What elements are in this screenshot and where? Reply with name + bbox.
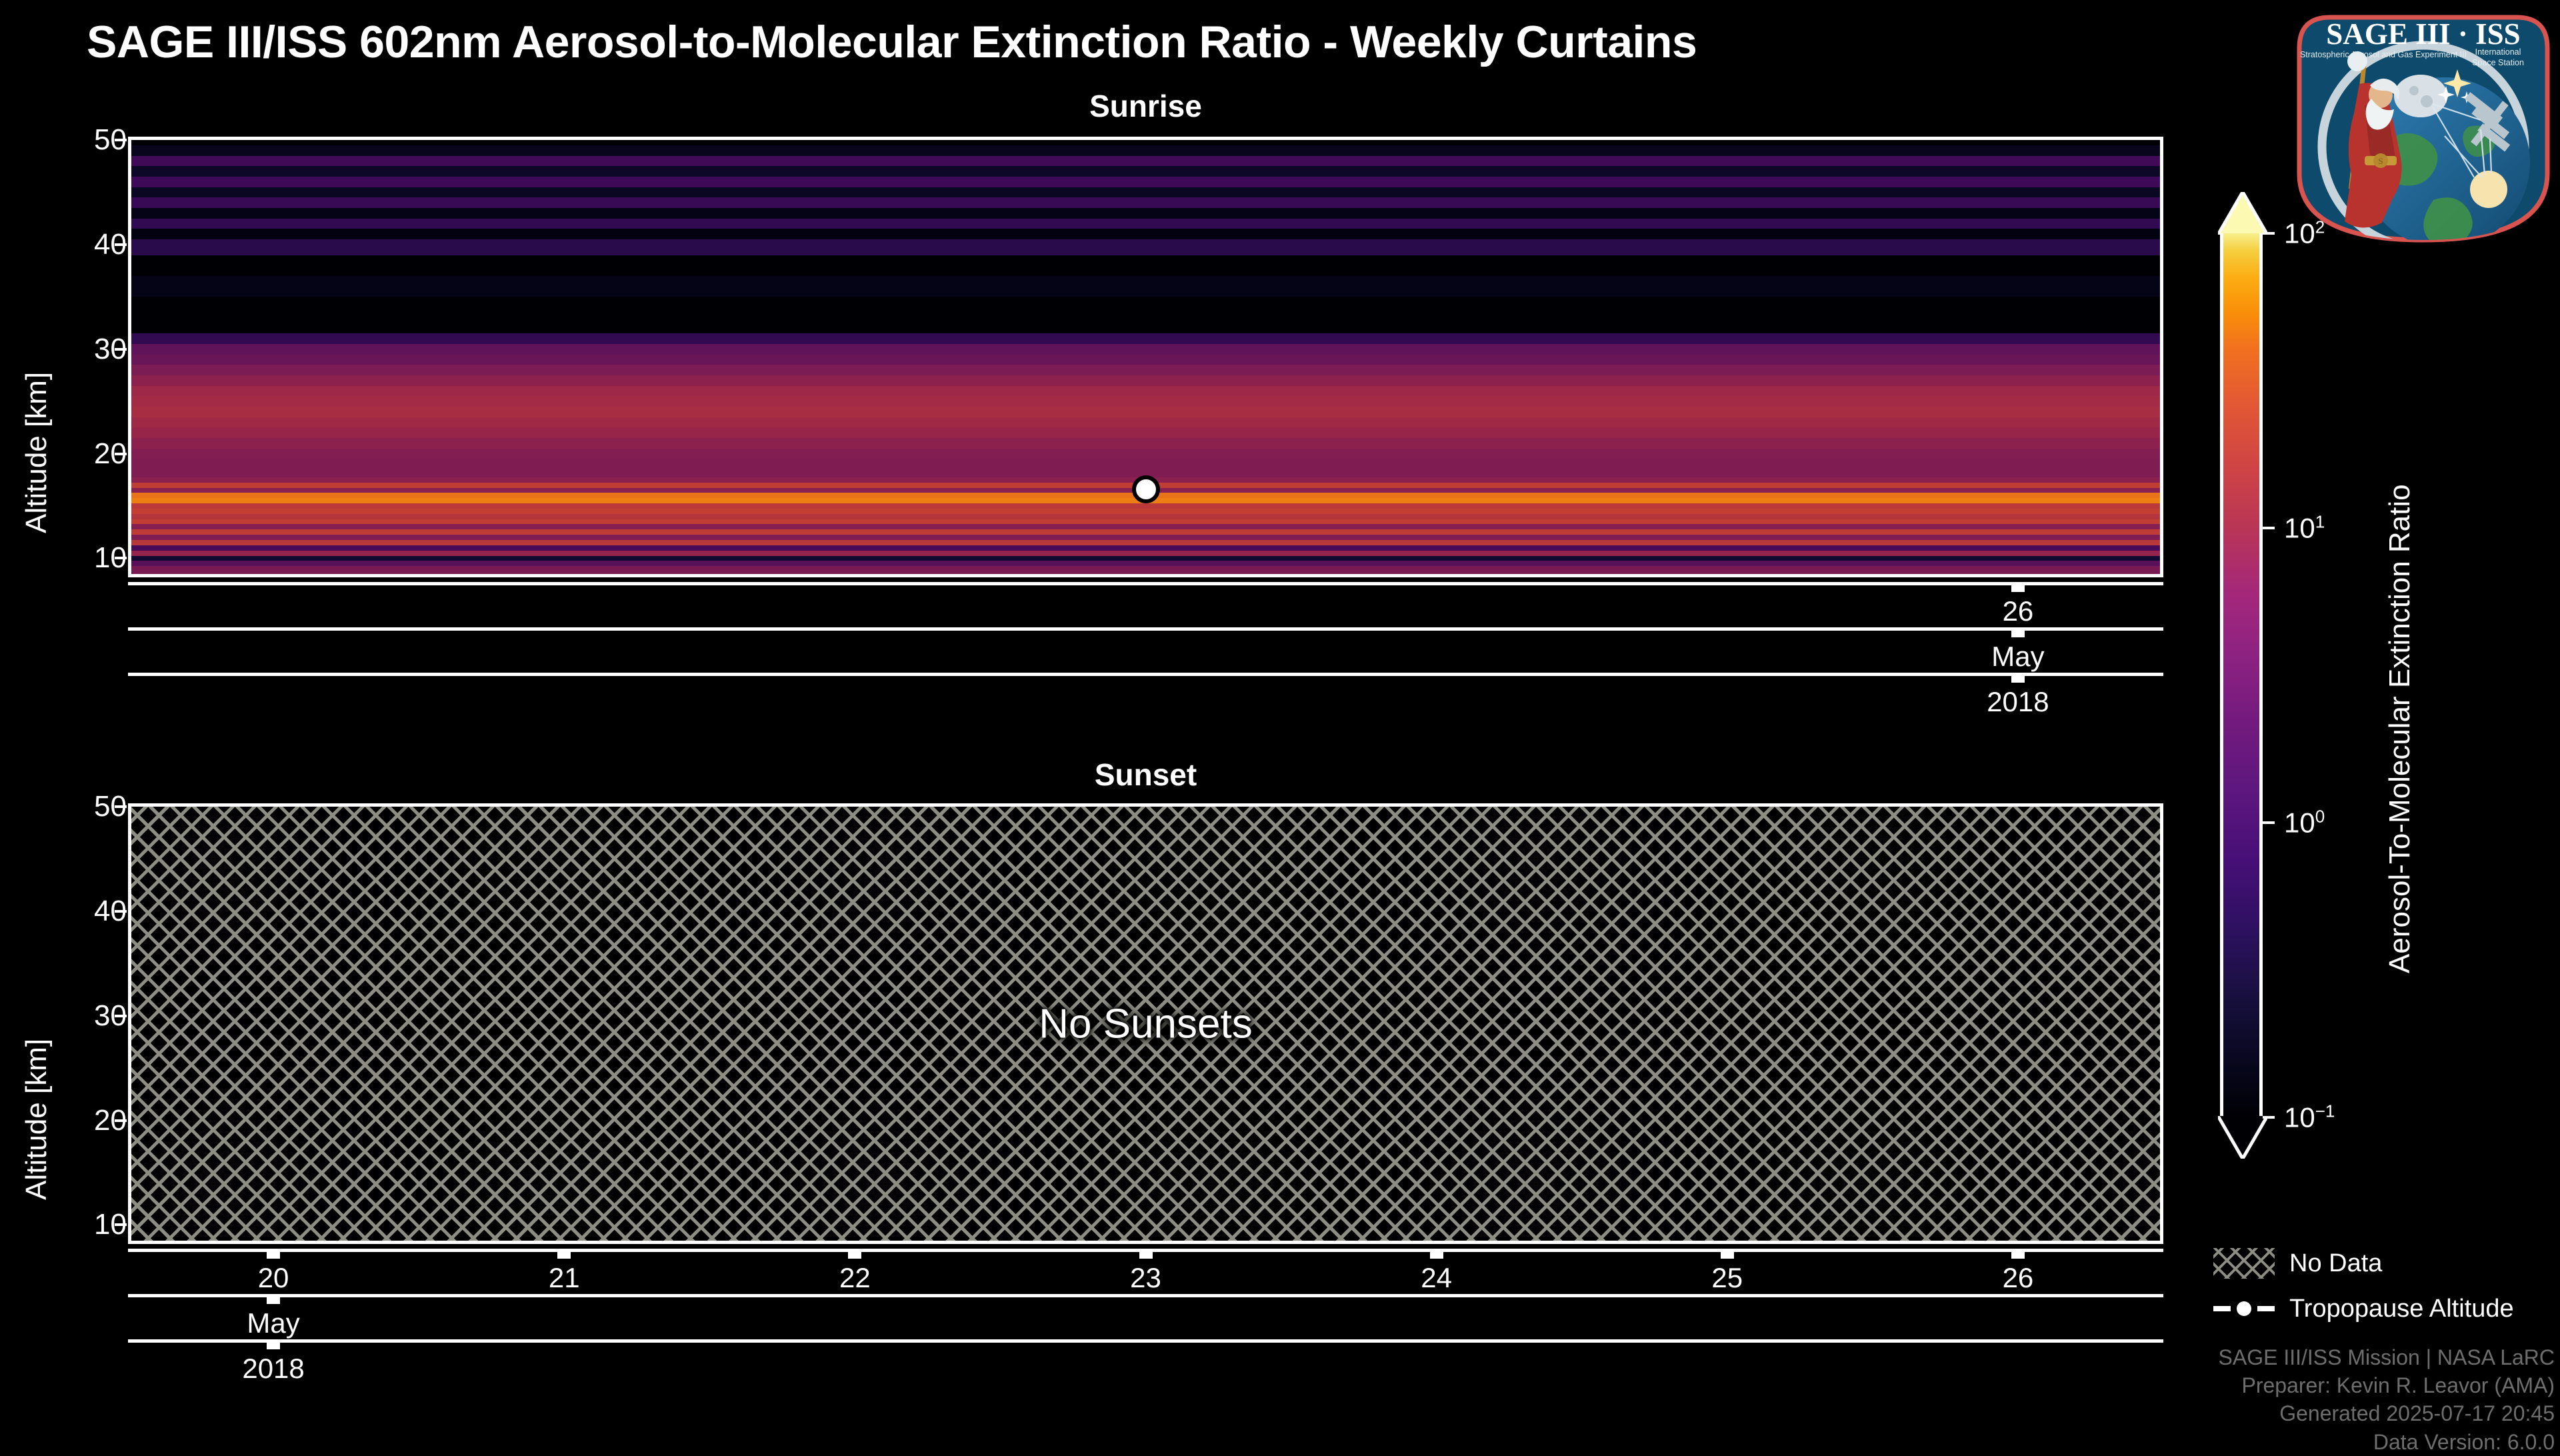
sage-iii-iss-logo: S BALL · NASA LANGLEY RESEARCH CENTER · … bbox=[2290, 5, 2557, 245]
sunrise-y-ticks: 5040302010 bbox=[0, 137, 127, 577]
heatmap-band bbox=[131, 551, 2160, 556]
tropopause-altitude-marker[interactable] bbox=[1132, 475, 1160, 503]
heatmap-band bbox=[131, 255, 2160, 276]
x-tick-mark bbox=[2011, 582, 2025, 592]
heatmap-band bbox=[131, 297, 2160, 317]
svg-text:S: S bbox=[2378, 156, 2383, 166]
sunrise-heatmap-plot[interactable] bbox=[128, 137, 2163, 577]
colorbar-tick-label: 102 bbox=[2284, 217, 2325, 250]
svg-text:Space Station: Space Station bbox=[2472, 58, 2524, 67]
heatmap-band bbox=[131, 407, 2160, 417]
heatmap-band bbox=[131, 239, 2160, 255]
footer-line-mission: SAGE III/ISS Mission | NASA LaRC bbox=[2219, 1343, 2555, 1371]
heatmap-band bbox=[131, 509, 2160, 514]
heatmap-band bbox=[131, 344, 2160, 355]
y-tick-mark bbox=[115, 348, 127, 351]
no-data-hatch-icon bbox=[2213, 1248, 2275, 1279]
x-tick-mark bbox=[1721, 1249, 1734, 1259]
heatmap-band bbox=[131, 140, 2160, 145]
heatmap-band bbox=[131, 208, 2160, 219]
y-tick-mark bbox=[115, 557, 127, 559]
heatmap-band bbox=[131, 545, 2160, 551]
x-tick-label-year: 2018 bbox=[242, 1353, 304, 1385]
sunrise-heatmap-layer bbox=[131, 140, 2160, 574]
heatmap-band bbox=[131, 156, 2160, 167]
x-tick-mark bbox=[1139, 1249, 1153, 1259]
x-tick-mark bbox=[267, 1249, 280, 1259]
svg-text:SAGE III · ISS: SAGE III · ISS bbox=[2326, 17, 2520, 51]
legend-item-tropopause: Tropopause Altitude bbox=[2213, 1289, 2560, 1329]
colorbar-tick-label: 10−1 bbox=[2284, 1101, 2335, 1134]
footer-line-preparer: Preparer: Kevin R. Leavor (AMA) bbox=[2219, 1371, 2555, 1399]
heatmap-band bbox=[131, 561, 2160, 566]
heatmap-band bbox=[131, 318, 2160, 334]
svg-text:International: International bbox=[2475, 47, 2521, 57]
heatmap-band bbox=[131, 229, 2160, 239]
tropopause-line-marker-icon bbox=[2213, 1293, 2275, 1324]
x-tick-label-year: 2018 bbox=[1987, 686, 2049, 718]
colorbar-tick-mark bbox=[2263, 527, 2275, 529]
x-axis-rule bbox=[128, 1294, 2163, 1297]
heatmap-band bbox=[131, 333, 2160, 344]
legend-label-tropopause: Tropopause Altitude bbox=[2289, 1295, 2514, 1323]
y-tick-mark bbox=[115, 1223, 127, 1226]
x-tick-mark bbox=[557, 1249, 571, 1259]
sunrise-panel-title: Sunrise bbox=[128, 88, 2163, 124]
x-tick-mark bbox=[848, 1249, 861, 1259]
footer-line-data-version: Data Version: 6.0.0 bbox=[2219, 1428, 2555, 1456]
heatmap-band bbox=[131, 177, 2160, 187]
heatmap-band bbox=[131, 365, 2160, 375]
heatmap-band bbox=[131, 219, 2160, 229]
heatmap-band bbox=[131, 459, 2160, 469]
heatmap-band bbox=[131, 503, 2160, 509]
colorbar-bottom-arrow-outline bbox=[2218, 1116, 2267, 1159]
x-axis-rule bbox=[128, 673, 2163, 676]
page-title: SAGE III/ISS 602nm Aerosol-to-Molecular … bbox=[87, 16, 1697, 68]
x-tick-mark bbox=[2011, 673, 2025, 683]
heatmap-band bbox=[131, 519, 2160, 525]
x-tick-mark bbox=[2011, 627, 2025, 637]
heatmap-band bbox=[131, 427, 2160, 438]
y-tick-mark bbox=[115, 1119, 127, 1122]
colorbar-tick-label: 100 bbox=[2284, 807, 2325, 839]
x-tick-label-month: May bbox=[1991, 641, 2044, 673]
y-tick-mark bbox=[115, 243, 127, 246]
colorbar-tick-label: 101 bbox=[2284, 512, 2325, 545]
y-tick-mark bbox=[115, 805, 127, 808]
heatmap-band bbox=[131, 386, 2160, 397]
y-tick-mark bbox=[115, 139, 127, 141]
y-tick-mark bbox=[115, 910, 127, 913]
heatmap-band bbox=[131, 375, 2160, 386]
y-tick-mark bbox=[115, 1015, 127, 1017]
legend-label-no-data: No Data bbox=[2289, 1249, 2382, 1278]
heatmap-band bbox=[131, 145, 2160, 156]
heatmap-band bbox=[131, 417, 2160, 428]
colorbar-top-arrow-outline bbox=[2218, 192, 2267, 235]
heatmap-band bbox=[131, 396, 2160, 407]
x-tick-label-day: 26 bbox=[2003, 595, 2034, 627]
x-tick-label-day: 25 bbox=[1711, 1262, 1743, 1294]
heatmap-band bbox=[131, 556, 2160, 561]
heatmap-band bbox=[131, 438, 2160, 449]
x-tick-label-day: 20 bbox=[258, 1262, 289, 1294]
heatmap-band bbox=[131, 535, 2160, 540]
svg-text:Stratospheric Aerosol and Gas: Stratospheric Aerosol and Gas Experiment… bbox=[2300, 50, 2467, 59]
x-tick-mark bbox=[2011, 1249, 2025, 1259]
x-axis-rule bbox=[128, 627, 2163, 631]
x-tick-label-day: 22 bbox=[839, 1262, 871, 1294]
x-axis-rule bbox=[128, 1339, 2163, 1343]
colorbar-tick-mark bbox=[2263, 232, 2275, 235]
x-tick-label-month: May bbox=[247, 1307, 299, 1339]
x-tick-label-day: 26 bbox=[2003, 1262, 2034, 1294]
sunset-heatmap-plot[interactable]: No Sunsets bbox=[128, 803, 2163, 1244]
footer-credits: SAGE III/ISS Mission | NASA LaRC Prepare… bbox=[2219, 1343, 2555, 1456]
colorbar-tick-mark bbox=[2263, 821, 2275, 824]
heatmap-band bbox=[131, 524, 2160, 529]
x-tick-mark bbox=[267, 1339, 280, 1349]
colorbar-axis-label: Aerosol-To-Molecular Extinction Ratio bbox=[2383, 484, 2417, 973]
x-tick-label-day: 24 bbox=[1421, 1262, 1452, 1294]
x-tick-mark bbox=[267, 1294, 280, 1304]
y-tick-mark bbox=[115, 453, 127, 455]
heatmap-band bbox=[131, 529, 2160, 535]
sunset-panel-title: Sunset bbox=[128, 757, 2163, 793]
sunset-y-ticks: 5040302010 bbox=[0, 803, 127, 1244]
heatmap-band bbox=[131, 514, 2160, 519]
footer-line-generated: Generated 2025-07-17 20:45 bbox=[2219, 1399, 2555, 1427]
x-tick-label-day: 23 bbox=[1130, 1262, 1161, 1294]
heatmap-band bbox=[131, 166, 2160, 177]
heatmap-band bbox=[131, 449, 2160, 459]
heatmap-band bbox=[131, 197, 2160, 208]
heatmap-band bbox=[131, 276, 2160, 297]
legend-item-no-data: No Data bbox=[2213, 1243, 2560, 1283]
no-sunsets-annotation: No Sunsets bbox=[131, 1000, 2160, 1047]
colorbar-gradient bbox=[2220, 233, 2263, 1117]
x-tick-label-day: 21 bbox=[549, 1262, 580, 1294]
heatmap-band bbox=[131, 566, 2160, 574]
x-axis-rule bbox=[128, 582, 2163, 585]
legend: No Data Tropopause Altitude bbox=[2213, 1243, 2560, 1334]
heatmap-band bbox=[131, 540, 2160, 545]
colorbar-tick-mark bbox=[2263, 1116, 2275, 1119]
colorbar[interactable]: 10210110010−1 bbox=[2220, 192, 2263, 1159]
x-tick-mark bbox=[1430, 1249, 1443, 1259]
heatmap-band bbox=[131, 187, 2160, 198]
heatmap-band bbox=[131, 355, 2160, 365]
